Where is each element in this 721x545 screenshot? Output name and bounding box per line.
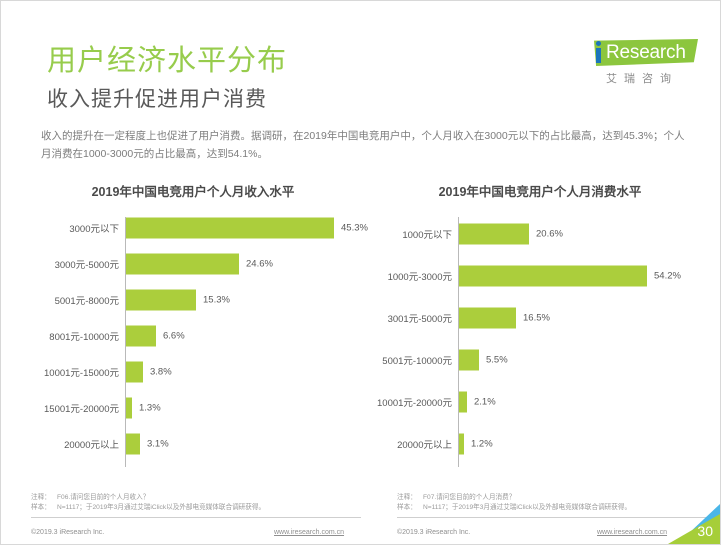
website-link-right[interactable]: www.iresearch.com.cn [597, 529, 667, 536]
chart-row: 1000元以下 20.6% [370, 217, 710, 251]
category-label: 20000元以上 [370, 437, 452, 451]
footnote-value: N=1117；于2019年3月通过艾瑞iClick以及外部电竞媒体联合调研获得。 [423, 504, 631, 511]
category-label: 10001元-20000元 [370, 395, 452, 409]
category-label: 15001元-20000元 [23, 401, 119, 415]
logo-chinese-name: 艾瑞咨询 [606, 70, 678, 86]
value-label: 6.6% [163, 331, 185, 342]
value-label: 1.2% [471, 439, 493, 450]
category-label: 20000元以上 [23, 437, 119, 451]
value-label: 5.5% [486, 355, 508, 366]
category-label: 1000元以下 [370, 227, 452, 241]
value-label: 3.8% [150, 367, 172, 378]
chart-row: 10001元-15000元 3.8% [23, 355, 363, 389]
footnote-value: F07.请问您目前的个人月消费？ [423, 494, 515, 501]
logo-i-dot-icon [596, 41, 601, 46]
bar [459, 266, 647, 287]
footnote-value: N=1117；于2019年3月通过艾瑞iClick以及外部电竞媒体联合调研获得。 [57, 504, 265, 511]
chart-row: 3001元-5000元 16.5% [370, 301, 710, 335]
logo-mark: Research [576, 39, 698, 69]
footnote-line: 样本：N=1117；于2019年3月通过艾瑞iClick以及外部电竞媒体联合调研… [31, 503, 361, 513]
footnote-line: 注释：F06.请问您目前的个人月收入？ [31, 493, 361, 503]
value-label: 20.6% [536, 229, 563, 240]
bar-chart-spending: 1000元以下 20.6% 1000元-3000元 54.2% 3001元-50… [370, 211, 710, 473]
bar [126, 254, 239, 275]
value-label: 54.2% [654, 271, 681, 282]
page-footer: ©2019.3 iResearch Inc. www.iresearch.com… [1, 522, 720, 544]
category-label: 1000元-3000元 [370, 269, 452, 283]
category-label: 3000元-5000元 [23, 257, 119, 271]
bar [459, 350, 479, 371]
bar [126, 290, 196, 311]
category-label: 5001元-10000元 [370, 353, 452, 367]
value-label: 15.3% [203, 295, 230, 306]
category-label: 10001元-15000元 [23, 365, 119, 379]
bar [126, 362, 143, 383]
logo-wordmark: Research [606, 42, 686, 64]
bar [126, 398, 132, 419]
category-label: 5001元-8000元 [23, 293, 119, 307]
website-link-left[interactable]: www.iresearch.com.cn [274, 529, 344, 536]
chart-panel-income: 2019年中国电竞用户个人月收入水平 3000元以下 45.3% 3000元-5… [23, 181, 363, 526]
chart-row: 5001元-10000元 5.5% [370, 343, 710, 377]
chart-title-income: 2019年中国电竞用户个人月收入水平 [23, 181, 363, 200]
bar [459, 392, 467, 413]
intro-paragraph: 收入的提升在一定程度上也促进了用户消费。据调研，在2019年中国电竞用户中，个人… [41, 127, 689, 163]
value-label: 1.3% [139, 403, 161, 414]
chart-row: 20000元以上 1.2% [370, 427, 710, 461]
bar [459, 308, 516, 329]
chart-row: 5001元-8000元 15.3% [23, 283, 363, 317]
value-label: 24.6% [246, 259, 273, 270]
footnote-key: 注释： [397, 493, 423, 503]
chart-title-spending: 2019年中国电竞用户个人月消费水平 [370, 181, 710, 200]
chart-row: 3000元以下 45.3% [23, 211, 363, 245]
page-subtitle: 收入提升促进用户消费 [47, 83, 267, 113]
page-number: 30 [697, 523, 713, 539]
bar [126, 434, 140, 455]
copyright-left: ©2019.3 iResearch Inc. [31, 529, 104, 536]
footnote-key: 样本： [397, 503, 423, 513]
chart-row: 3000元-5000元 24.6% [23, 247, 363, 281]
bar [126, 218, 334, 239]
value-label: 16.5% [523, 313, 550, 324]
iresearch-logo: Research 艾瑞咨询 [576, 39, 698, 87]
footnote-value: F06.请问您目前的个人月收入？ [57, 494, 149, 501]
category-label: 3000元以下 [23, 221, 119, 235]
chart-row: 10001元-20000元 2.1% [370, 385, 710, 419]
category-label: 8001元-10000元 [23, 329, 119, 343]
copyright-right: ©2019.3 iResearch Inc. [397, 529, 470, 536]
chart-row: 8001元-10000元 6.6% [23, 319, 363, 353]
chart-row: 15001元-20000元 1.3% [23, 391, 363, 425]
page-title: 用户经济水平分布 [47, 37, 287, 79]
bar [459, 434, 464, 455]
value-label: 45.3% [341, 223, 368, 234]
slide: 用户经济水平分布 收入提升促进用户消费 收入的提升在一定程度上也促进了用户消费。… [0, 0, 721, 545]
logo-i-stem-icon [596, 48, 601, 63]
chart-row: 1000元-3000元 54.2% [370, 259, 710, 293]
footnote-key: 注释： [31, 493, 57, 503]
page-number-corner: 30 [668, 504, 720, 544]
chart-panel-spending: 2019年中国电竞用户个人月消费水平 1000元以下 20.6% 1000元-3… [370, 181, 710, 526]
value-label: 3.1% [147, 439, 169, 450]
chart-row: 20000元以上 3.1% [23, 427, 363, 461]
footnote-key: 样本： [31, 503, 57, 513]
category-label: 3001元-5000元 [370, 311, 452, 325]
bar [459, 224, 529, 245]
footnote-income: 注释：F06.请问您目前的个人月收入？ 样本：N=1117；于2019年3月通过… [31, 493, 361, 518]
bar [126, 326, 156, 347]
value-label: 2.1% [474, 397, 496, 408]
bar-chart-income: 3000元以下 45.3% 3000元-5000元 24.6% 5001元-80… [23, 211, 363, 473]
footnote-line: 注释：F07.请问您目前的个人月消费？ [397, 493, 721, 503]
